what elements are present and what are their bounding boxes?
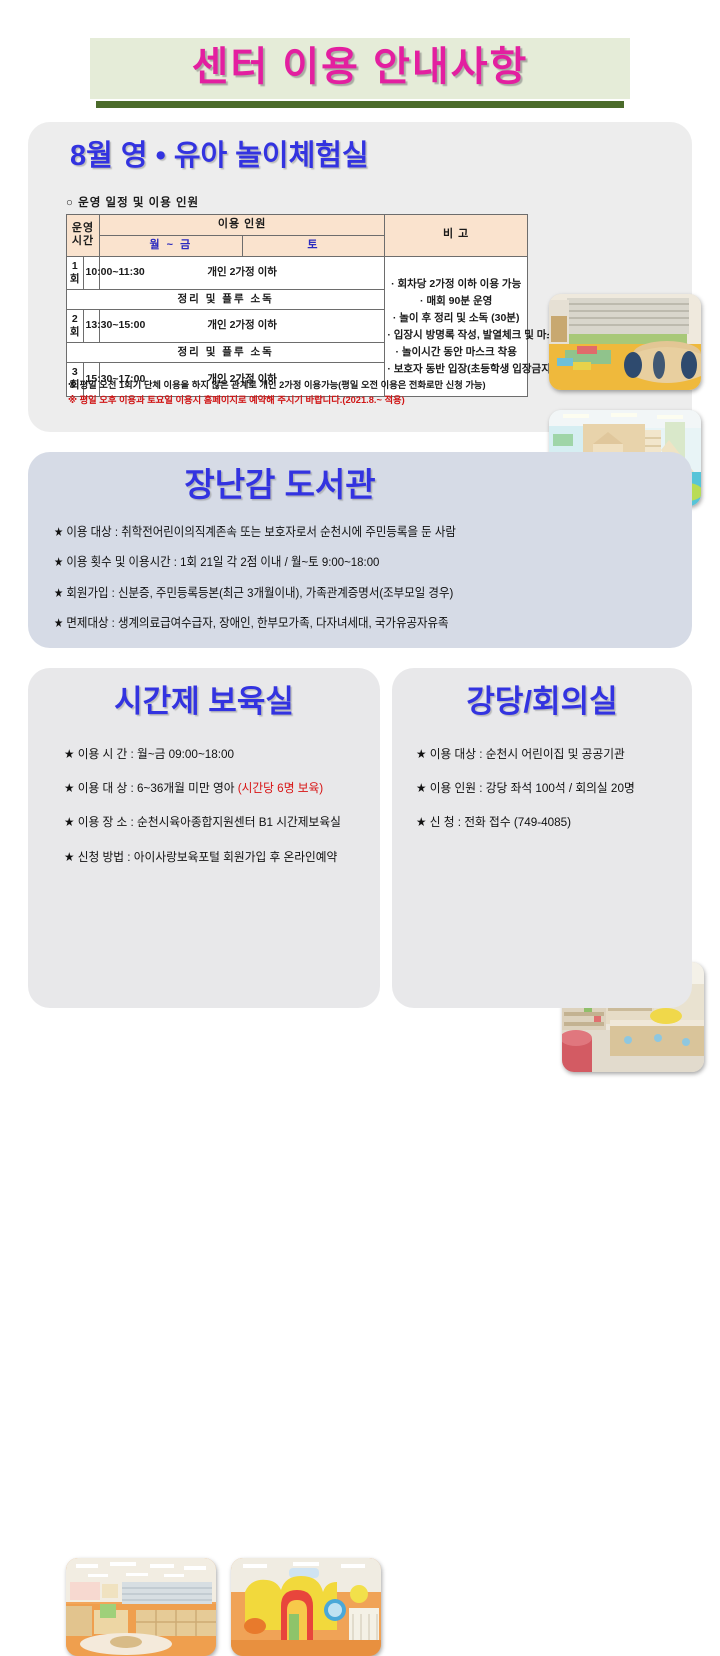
- list-item: ★ 신 청 : 전화 접수 (749-4085): [416, 816, 677, 828]
- cell-round: 1회: [67, 256, 84, 289]
- list-item: ★ 이용 대 상 : 6~36개월 미만 영아 (시간당 6명 보육): [64, 782, 362, 794]
- cell-round: 2회: [67, 309, 84, 342]
- auditorium-bullets: ★ 이용 대상 : 순천시 어린이집 및 공공기관 ★ 이용 인원 : 강당 좌…: [416, 748, 688, 851]
- cell-time: 13:30~15:00: [83, 309, 100, 342]
- remark-list: · 회차당 2가정 이하 이용 가능 · 매회 90분 운영 · 놀이 후 정리…: [387, 275, 525, 378]
- poster-title-banner: 센터 이용 안내사항: [90, 38, 630, 108]
- th-capacity: 이용 인원: [100, 215, 385, 236]
- section-hourly-daycare: 시간제 보육실 ★ 이용 시 간 : 월~금 09:00~18:00 ★ 이용 …: [28, 668, 380, 1008]
- th-saturday: 토: [242, 235, 385, 256]
- th-operating-time: 운영 시간: [67, 215, 100, 257]
- play-room-tunnel-photo: [549, 294, 701, 390]
- cell-disinfect: 정리 및 플루 소독: [67, 289, 385, 309]
- table-row: 1회 10:00~11:30 개인 2가정 이하 · 회차당 2가정 이하 이용…: [67, 256, 528, 289]
- title-band: 센터 이용 안내사항: [90, 38, 630, 99]
- daycare-classroom-photo: [66, 1558, 216, 1656]
- list-item: ★ 면제대상 : 생계의료급여수급자, 장애인, 한부모가족, 다자녀세대, 국…: [54, 617, 519, 629]
- list-item: ★ 회원가입 : 신분증, 주민등록등본(최근 3개월이내), 가족관계증명서(…: [54, 587, 519, 599]
- list-item: ★ 신청 방법 : 아이사랑보육포털 회원가입 후 온라인예약: [64, 851, 362, 863]
- schedule-footnotes: ※ 평일 오전 1회기 단체 이용을 하지 않은 관계로 개인 2가정 이용가능…: [68, 378, 538, 408]
- list-item: ★ 이용 횟수 및 이용시간 : 1회 21일 각 2점 이내 / 월~토 9:…: [54, 556, 519, 568]
- list-item: ★ 이용 인원 : 강당 좌석 100석 / 회의실 20명: [416, 782, 677, 794]
- toy-library-heading: 장난감 도서관: [28, 466, 532, 504]
- th-remark: 비 고: [385, 215, 528, 257]
- page-title: 센터 이용 안내사항: [90, 44, 630, 91]
- section-auditorium: 강당/회의실 ★ 이용 대상 : 순천시 어린이집 및 공공기관 ★ 이용 인원…: [392, 668, 692, 1008]
- hourly-daycare-heading: 시간제 보육실: [28, 684, 380, 720]
- footnote-1: ※ 평일 오전 1회기 단체 이용을 하지 않은 관계로 개인 2가정 이용가능…: [68, 378, 538, 393]
- list-item: ★ 이용 시 간 : 월~금 09:00~18:00: [64, 748, 362, 760]
- list-item: ★ 이용 대상 : 순천시 어린이집 및 공공기관: [416, 748, 677, 760]
- list-item: · 보호자 동반 입장(초등학생 입장금지): [387, 361, 525, 378]
- schedule-table-caption: ○ 운영 일정 및 이용 인원: [66, 194, 199, 210]
- auditorium-heading: 강당/회의실: [392, 684, 692, 720]
- list-item: · 회차당 2가정 이하 이용 가능: [387, 276, 525, 293]
- toy-library-bullets: ★ 이용 대상 : 취학전어린이의직계존속 또는 보호자로서 순천시에 주민등록…: [54, 526, 554, 647]
- th-weekday: 월 ~ 금: [100, 235, 243, 256]
- play-room-heading: 8월 영 • 유아 놀이체험실: [70, 140, 369, 173]
- list-item: · 입장시 방명록 작성, 발열체크 및 마스크착용: [387, 327, 525, 344]
- footnote-2: ※ 평일 오후 이용과 토요일 이용시 홈페이지로 예약해 주시기 바랍니다.(…: [68, 393, 538, 408]
- schedule-table: 운영 시간 이용 인원 비 고 월 ~ 금 토 1회 10:00~11:30 개…: [66, 214, 528, 397]
- list-item: · 매회 90분 운영: [387, 293, 525, 310]
- cell-time: 10:00~11:30: [83, 256, 100, 289]
- title-underline-rule: [96, 101, 624, 108]
- list-item: · 놀이 후 정리 및 소독 (30분): [387, 310, 525, 327]
- list-item: ★ 이용 대상 : 취학전어린이의직계존속 또는 보호자로서 순천시에 주민등록…: [54, 526, 519, 538]
- hourly-daycare-bullets: ★ 이용 시 간 : 월~금 09:00~18:00 ★ 이용 대 상 : 6~…: [64, 748, 374, 885]
- list-item: · 놀이시간 동안 마스크 착용: [387, 344, 525, 361]
- section-play-room: 8월 영 • 유아 놀이체험실 ○ 운영 일정 및 이용 인원 운영 시간 이용…: [28, 122, 692, 432]
- daycare-play-structure-photo: [231, 1558, 381, 1656]
- cell-remark: · 회차당 2가정 이하 이용 가능 · 매회 90분 운영 · 놀이 후 정리…: [385, 256, 528, 396]
- cell-disinfect: 정리 및 플루 소독: [67, 343, 385, 363]
- section-toy-library: 장난감 도서관 ★ 이용 대상 : 취학전어린이의직계존속 또는 보호자로서 순…: [28, 452, 692, 648]
- list-item: ★ 이용 장 소 : 순천시육아종합지원센터 B1 시간제보육실: [64, 816, 362, 828]
